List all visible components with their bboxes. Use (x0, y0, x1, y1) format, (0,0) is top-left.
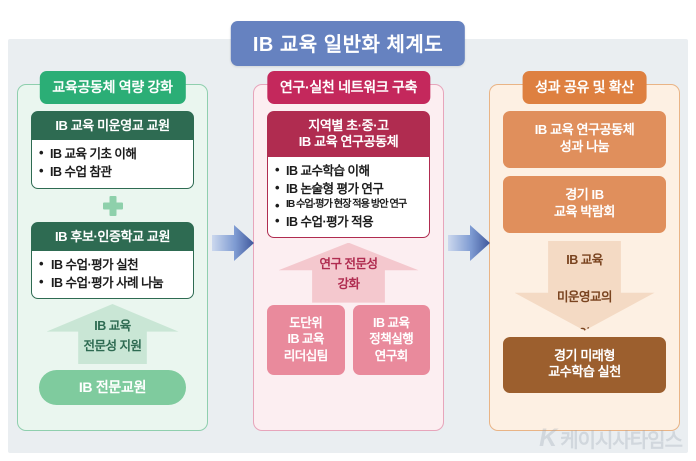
card-title-candidate-certified-teachers: IB 후보·인증학교 교원 (32, 223, 193, 251)
card-title-line2: IB 교육 연구공동체 (299, 134, 399, 149)
diagram-canvas: IB 교육 일반화 체계도 교육공동체 역량 강화 IB 교육 미운영교 교원 … (0, 0, 696, 461)
card-title-non-ib-teachers: IB 교육 미운영교 교원 (32, 112, 193, 140)
up-arrow-label-left-line1: IB 교육 (84, 319, 142, 339)
box-line2: IB 교육 (288, 332, 324, 346)
list-item: IB 수업·평가 사례 나눔 (38, 274, 187, 292)
column-left-body: IB 교육 미운영교 교원 IB 교육 기초 이해 IB 수업 참관 IB 후보… (18, 111, 207, 405)
page-title: IB 교육 일반화 체계도 (231, 21, 465, 66)
column-education-community: 교육공동체 역량 강화 IB 교육 미운영교 교원 IB 교육 기초 이해 IB… (17, 84, 208, 431)
box-line1: 경기 IB (565, 187, 604, 202)
list-item: IB 교육 기초 이해 (38, 145, 187, 163)
column-header-right: 성과 공유 및 확산 (522, 71, 647, 104)
card-regional-research-community: 지역별 초·중·고 IB 교육 연구공동체 IB 교수학습 이해 IB 논술형 … (267, 111, 430, 238)
card-candidate-certified-teachers: IB 후보·인증학교 교원 IB 수업·평가 실천 IB 수업·평가 사례 나눔 (31, 222, 194, 300)
box-line2: 정책실행 (369, 332, 413, 346)
up-arrow-label-middle: 연구 전문성 강화 (320, 257, 378, 303)
bottom-box-row-middle: 도단위 IB 교육 리더십팀 IB 교육 정책실행 연구회 (267, 305, 430, 376)
column-right-body: IB 교육 연구공동체 성과 나눔 경기 IB 교육 박람회 IB 교육 미운영… (490, 111, 679, 393)
box-line3: 리더십팀 (284, 349, 328, 363)
plus-icon (31, 193, 194, 219)
bullet-list-non-ib-teachers: IB 교육 기초 이해 IB 수업 참관 (38, 145, 187, 181)
box-gyeonggi-future-teaching-practice: 경기 미래형 교수학습 실천 (503, 337, 666, 394)
up-arrow-icon-expertise-support: IB 교육 전문성 지원 (47, 304, 179, 364)
list-item: IB 수업·평가 현장 적용 방안 연구 (274, 198, 423, 213)
down-arrow-icon-apply-to-non-ib-schools: IB 교육 미운영교의 IB 수업·평가 적용 (515, 241, 655, 331)
card-body-candidate-certified-teachers: IB 수업·평가 실천 IB 수업·평가 사례 나눔 (32, 251, 193, 298)
list-item: IB 교수학습 이해 (274, 162, 423, 180)
box-line3: 연구회 (375, 349, 408, 363)
card-body-non-ib-teachers: IB 교육 기초 이해 IB 수업 참관 (32, 140, 193, 187)
list-item: IB 수업·평가 적용 (274, 213, 423, 231)
column-header-left: 교육공동체 역량 강화 (39, 71, 185, 104)
box-provincial-leadership-team: 도단위 IB 교육 리더십팀 (267, 305, 345, 376)
box-line1: 경기 미래형 (554, 348, 615, 363)
arrow-right-icon-left-to-middle (210, 223, 256, 263)
card-title-regional-research-community: 지역별 초·중·고 IB 교육 연구공동체 (268, 112, 429, 157)
list-item: IB 수업 참관 (38, 163, 187, 181)
card-title-line1: 지역별 초·중·고 (308, 118, 388, 133)
up-arrow-label-left-line2: 전문성 지원 (84, 339, 142, 359)
arrow-right-icon-middle-to-right (446, 223, 492, 263)
up-arrow-icon-research-expertise: 연구 전문성 강화 (279, 243, 419, 303)
up-arrow-label-middle-line1: 연구 전문성 (320, 257, 378, 277)
box-line2: 성과 나눔 (560, 139, 609, 154)
box-line1: IB 교육 (373, 316, 409, 330)
box-line2: 교육 박람회 (554, 204, 615, 219)
column-middle-body: 지역별 초·중·고 IB 교육 연구공동체 IB 교수학습 이해 IB 논술형 … (254, 111, 443, 375)
down-arrow-label-line1: IB 교육 (553, 247, 615, 269)
down-arrow-label-line2: 미운영교의 (553, 284, 615, 306)
up-arrow-label-left: IB 교육 전문성 지원 (84, 319, 142, 365)
up-arrow-label-middle-line2: 강화 (320, 277, 378, 297)
box-research-community-outcome-sharing: IB 교육 연구공동체 성과 나눔 (503, 111, 666, 168)
list-item: IB 논술형 평가 연구 (274, 180, 423, 198)
box-line1: 도단위 (289, 316, 322, 330)
column-header-middle: 연구·실천 네트워크 구축 (267, 71, 430, 104)
bullet-list-candidate-certified-teachers: IB 수업·평가 실천 IB 수업·평가 사례 나눔 (38, 256, 187, 292)
list-item: IB 수업·평가 실천 (38, 256, 187, 274)
box-line2: 교수학습 실천 (548, 364, 621, 379)
bullet-list-regional-research-community: IB 교수학습 이해 IB 논술형 평가 연구 IB 수업·평가 현장 적용 방… (274, 162, 423, 231)
column-research-practice-network: 연구·실천 네트워크 구축 지역별 초·중·고 IB 교육 연구공동체 IB 교… (253, 84, 444, 431)
card-non-ib-teachers: IB 교육 미운영교 교원 IB 교육 기초 이해 IB 수업 참관 (31, 111, 194, 189)
box-line1: IB 교육 연구공동체 (535, 122, 635, 137)
box-gyeonggi-ib-education-expo: 경기 IB 교육 박람회 (503, 176, 666, 233)
pill-ib-expert-teacher: IB 전문교원 (39, 370, 186, 405)
card-body-regional-research-community: IB 교수학습 이해 IB 논술형 평가 연구 IB 수업·평가 현장 적용 방… (268, 157, 429, 237)
box-policy-implementation-group: IB 교육 정책실행 연구회 (353, 305, 431, 376)
column-outcome-sharing-diffusion: 성과 공유 및 확산 IB 교육 연구공동체 성과 나눔 경기 IB 교육 박람… (489, 84, 680, 431)
